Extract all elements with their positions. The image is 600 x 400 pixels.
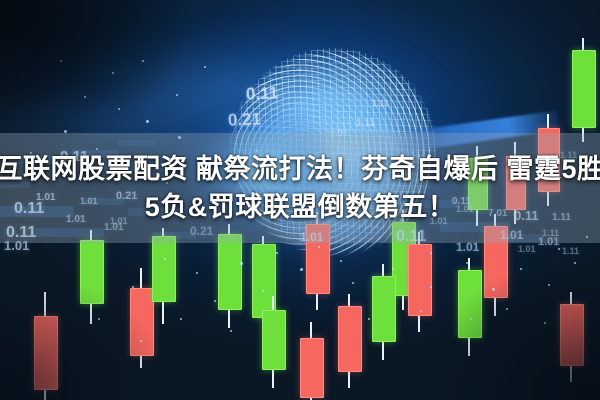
- promo-banner: 0.110.211.111.111.010.111.011.010.210.11…: [0, 0, 600, 400]
- caption-line-2: 5负&罚球联盟倒数第五！: [145, 189, 456, 225]
- caption-line-1: 互联网股票配资 献祭流打法！芬奇自爆后 雷霆5胜: [0, 151, 600, 187]
- caption-block: 互联网股票配资 献祭流打法！芬奇自爆后 雷霆5胜 5负&罚球联盟倒数第五！: [0, 133, 600, 243]
